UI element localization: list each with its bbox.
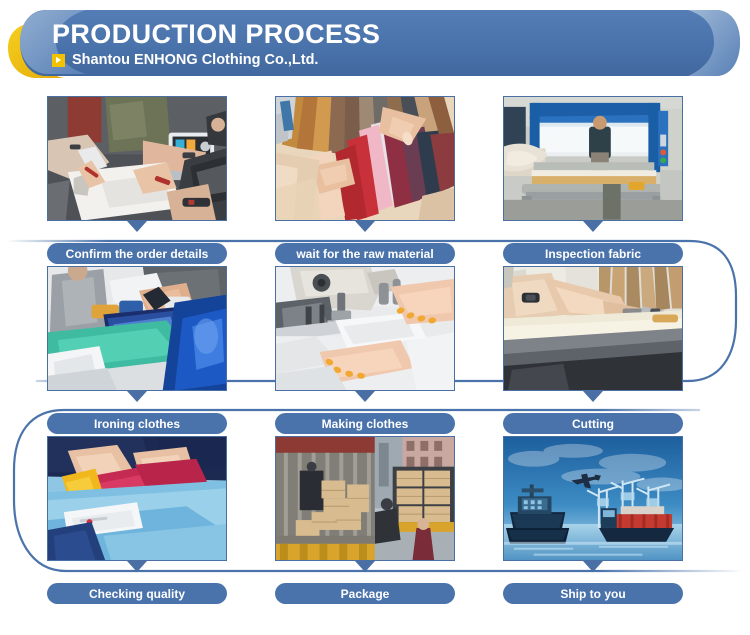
triangle-down-icon xyxy=(355,561,375,572)
shipping-port-photo xyxy=(503,436,683,561)
page-header-banner: PRODUCTION PROCESS Shantou ENHONG Clothi… xyxy=(0,8,750,80)
step-label[interactable]: Making clothes xyxy=(275,413,455,434)
fabric-swatches-photo xyxy=(275,96,455,221)
triangle-down-icon xyxy=(355,391,375,402)
step-label[interactable]: Cutting xyxy=(503,413,683,434)
triangle-down-icon xyxy=(355,221,375,232)
banner-text-block: PRODUCTION PROCESS Shantou ENHONG Clothi… xyxy=(52,8,652,80)
process-step[interactable]: Ironing clothes xyxy=(47,266,227,436)
page-title: PRODUCTION PROCESS xyxy=(52,20,652,48)
step-label[interactable]: Ship to you xyxy=(503,583,683,604)
process-row: Checking quality xyxy=(0,436,750,606)
sewing-machine-photo xyxy=(275,266,455,391)
process-step[interactable]: Cutting xyxy=(503,266,683,436)
process-step[interactable]: Checking quality xyxy=(47,436,227,606)
process-step[interactable]: Ship to you xyxy=(503,436,683,606)
play-triangle-icon xyxy=(52,54,65,67)
step-label[interactable]: Confirm the order details xyxy=(47,243,227,264)
triangle-down-icon xyxy=(127,391,147,402)
step-label[interactable]: Ironing clothes xyxy=(47,413,227,434)
process-step[interactable]: wait for the raw material xyxy=(275,96,455,266)
step-label[interactable]: Inspection fabric xyxy=(503,243,683,264)
triangle-down-icon xyxy=(583,391,603,402)
step-label[interactable]: Package xyxy=(275,583,455,604)
process-row: Ironing clothes xyxy=(0,266,750,436)
company-name: Shantou ENHONG Clothing Co.,Ltd. xyxy=(72,52,318,68)
order-meeting-photo xyxy=(47,96,227,221)
process-steps-grid: Confirm the order details xyxy=(0,96,750,606)
container-loading-photo xyxy=(275,436,455,561)
process-row: Confirm the order details xyxy=(0,96,750,266)
fabric-cutting-photo xyxy=(503,266,683,391)
triangle-down-icon xyxy=(127,221,147,232)
fabric-inspection-machine-photo xyxy=(503,96,683,221)
company-line: Shantou ENHONG Clothing Co.,Ltd. xyxy=(52,52,652,68)
triangle-down-icon xyxy=(583,561,603,572)
step-label[interactable]: wait for the raw material xyxy=(275,243,455,264)
process-step[interactable]: Confirm the order details xyxy=(47,96,227,266)
triangle-down-icon xyxy=(127,561,147,572)
quality-check-photo xyxy=(47,436,227,561)
ironing-photo xyxy=(47,266,227,391)
step-label[interactable]: Checking quality xyxy=(47,583,227,604)
process-step[interactable]: Package xyxy=(275,436,455,606)
process-step[interactable]: Making clothes xyxy=(275,266,455,436)
triangle-down-icon xyxy=(583,221,603,232)
process-step[interactable]: Inspection fabric xyxy=(503,96,683,266)
